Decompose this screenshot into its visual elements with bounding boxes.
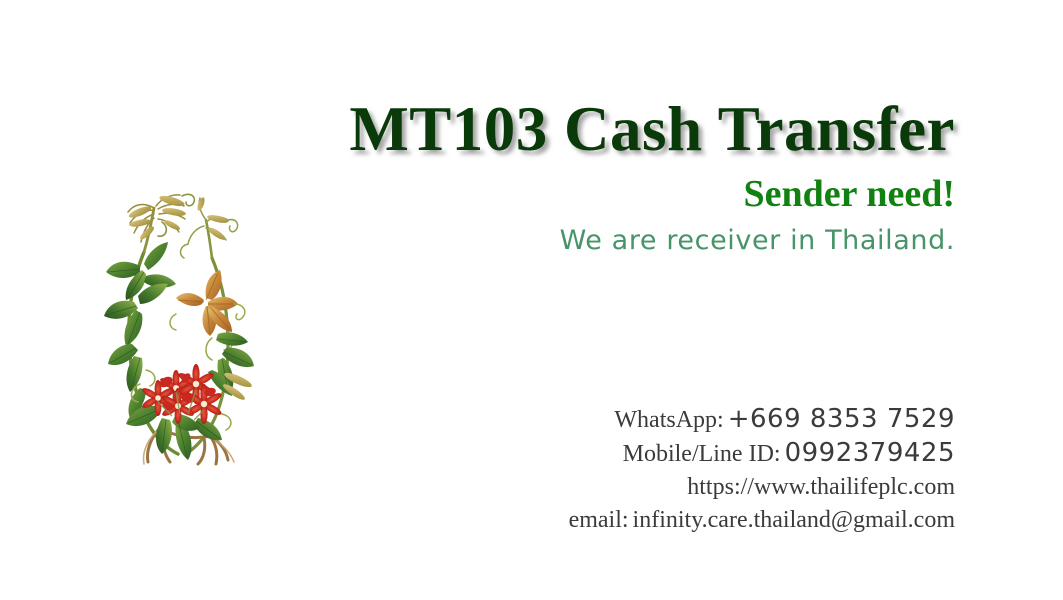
headline-block: MT103 Cash Transfer Sender need! We are … [280, 96, 955, 257]
email-label: email: [569, 507, 629, 533]
contact-details: WhatsApp: +669 8353 7529 Mobile/Line ID:… [380, 404, 955, 538]
tagline: We are receiver in Thailand. [280, 225, 955, 257]
website-link[interactable]: https://www.thailifeplc.com [687, 474, 955, 500]
whatsapp-number[interactable]: +669 8353 7529 [728, 404, 955, 434]
flyer-canvas: MT103 Cash Transfer Sender need! We are … [0, 0, 1063, 600]
floral-vine-wreath-illustration [100, 192, 260, 470]
mobile-line-id-label: Mobile/Line ID: [623, 441, 781, 467]
subtitle: Sender need! [280, 172, 955, 216]
whatsapp-label: WhatsApp: [614, 407, 723, 433]
contact-line-email: email: infinity.care.thailand@gmail.com [380, 505, 955, 538]
page-title: MT103 Cash Transfer [280, 96, 955, 162]
contact-line-whatsapp: WhatsApp: +669 8353 7529 [380, 404, 955, 438]
contact-line-mobile: Mobile/Line ID: 0992379425 [380, 438, 955, 472]
email-address[interactable]: infinity.care.thailand@gmail.com [633, 507, 955, 533]
contact-line-website: https://www.thailifeplc.com [380, 472, 955, 505]
mobile-line-id-number[interactable]: 0992379425 [785, 438, 955, 468]
